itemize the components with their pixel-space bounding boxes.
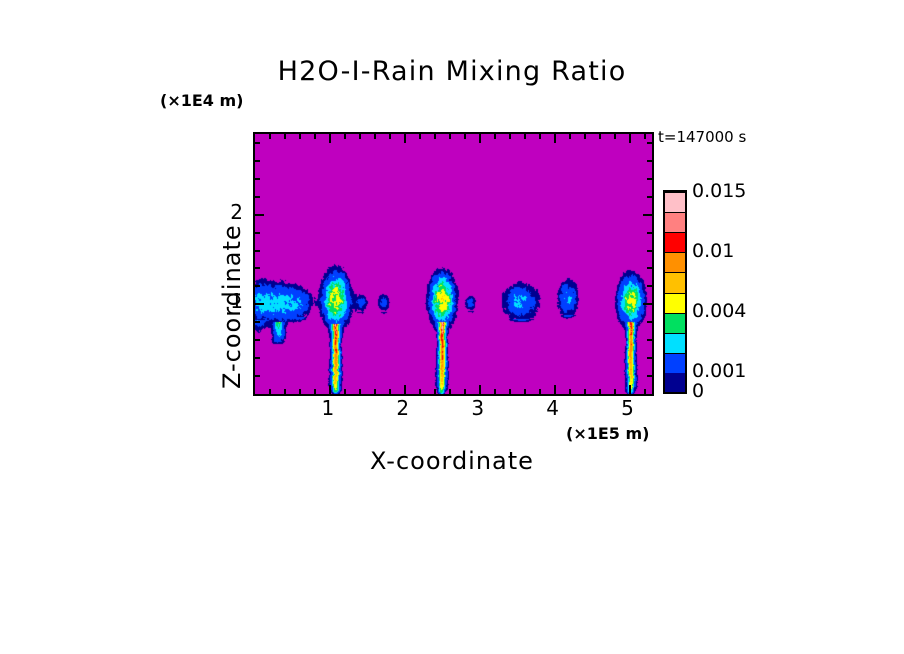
x-tick-top (299, 134, 301, 139)
y-tick-right (647, 196, 652, 198)
x-tick-top (374, 134, 376, 139)
x-tick-top (569, 134, 571, 139)
x-tick-top (329, 134, 331, 143)
y-tick (255, 267, 260, 269)
x-tick (614, 389, 616, 394)
y-tick (255, 232, 260, 234)
x-tick-top (359, 134, 361, 139)
y-tick-right (647, 142, 652, 144)
colorbar-label: 0.004 (692, 300, 746, 322)
colorbar-segment-2 (665, 333, 685, 353)
x-tick (269, 389, 271, 394)
colorbar-segment-8 (665, 212, 685, 232)
y-tick-right (647, 285, 652, 287)
y-tick (255, 214, 264, 216)
x-tick (434, 389, 436, 394)
x-tick-top (629, 134, 631, 143)
y-tick-right (647, 267, 652, 269)
x-tick (569, 389, 571, 394)
y-tick (255, 160, 260, 162)
x-tick-label: 4 (533, 396, 573, 420)
y-tick (255, 321, 260, 323)
colorbar-segment-3 (665, 313, 685, 333)
y-tick-right (643, 214, 652, 216)
colorbar (663, 190, 687, 394)
x-tick-top (554, 134, 556, 143)
x-tick (524, 389, 526, 394)
y-tick-right (647, 375, 652, 377)
x-tick-top (494, 134, 496, 139)
y-tick-right (647, 232, 652, 234)
colorbar-segment-7 (665, 232, 685, 252)
y-tick (255, 250, 260, 252)
field-heatmap (255, 134, 652, 394)
y-tick-right (647, 339, 652, 341)
x-tick-top (449, 134, 451, 139)
x-axis-unit-label: (×1E5 m) (566, 424, 649, 443)
y-tick (255, 196, 260, 198)
x-tick-label: 1 (308, 396, 348, 420)
x-tick-top (419, 134, 421, 139)
colorbar-label: 0.001 (692, 360, 746, 382)
x-tick-top (479, 134, 481, 143)
x-tick-top (389, 134, 391, 139)
x-tick-top (434, 134, 436, 139)
x-tick-top (509, 134, 511, 139)
x-tick-top (599, 134, 601, 139)
time-annotation: t=147000 s (658, 128, 746, 146)
y-tick-right (643, 303, 652, 305)
figure-canvas: H2O-I-Rain Mixing Ratio (×1E4 m) t=14700… (0, 0, 904, 654)
x-tick-top (344, 134, 346, 139)
x-tick-label: 5 (608, 396, 648, 420)
x-tick (644, 389, 646, 394)
x-tick-top (314, 134, 316, 139)
x-axis-title: X-coordinate (0, 447, 904, 475)
x-tick (479, 385, 481, 394)
colorbar-segment-0 (665, 373, 685, 392)
y-tick-right (647, 250, 652, 252)
x-tick-label: 2 (383, 396, 423, 420)
x-tick-top (524, 134, 526, 139)
x-tick-top (614, 134, 616, 139)
x-tick-top (284, 134, 286, 139)
y-tick-right (647, 357, 652, 359)
x-tick (329, 385, 331, 394)
y-axis-unit-label: (×1E4 m) (160, 91, 243, 110)
y-tick (255, 303, 264, 305)
x-tick-top (464, 134, 466, 139)
y-tick-right (647, 160, 652, 162)
y-tick (255, 178, 260, 180)
y-tick (255, 142, 260, 144)
x-tick (554, 385, 556, 394)
y-tick (255, 285, 260, 287)
x-tick-top (584, 134, 586, 139)
colorbar-segment-1 (665, 353, 685, 373)
x-tick (464, 389, 466, 394)
x-tick (359, 389, 361, 394)
colorbar-segment-6 (665, 252, 685, 272)
colorbar-segment-5 (665, 272, 685, 292)
colorbar-segment-4 (665, 293, 685, 313)
x-tick (344, 389, 346, 394)
y-tick-right (647, 178, 652, 180)
x-tick (419, 389, 421, 394)
x-tick (314, 389, 316, 394)
x-tick (299, 389, 301, 394)
x-tick (404, 385, 406, 394)
x-tick-top (269, 134, 271, 139)
x-tick (284, 389, 286, 394)
x-tick (374, 389, 376, 394)
y-axis-title: Z-coordinate (218, 224, 246, 389)
colorbar-label: 0.01 (692, 240, 734, 262)
x-tick (539, 389, 541, 394)
x-tick-top (404, 134, 406, 143)
x-tick (389, 389, 391, 394)
x-tick (629, 385, 631, 394)
colorbar-segment-9 (665, 192, 685, 212)
y-tick (255, 375, 260, 377)
x-tick (599, 389, 601, 394)
x-tick (584, 389, 586, 394)
y-tick-label: 2 (213, 200, 243, 224)
y-tick-right (647, 321, 652, 323)
colorbar-label: 0 (692, 380, 704, 402)
x-tick-top (539, 134, 541, 139)
x-tick-label: 3 (458, 396, 498, 420)
page-title: H2O-I-Rain Mixing Ratio (0, 56, 904, 87)
y-tick (255, 357, 260, 359)
x-tick-top (644, 134, 646, 139)
x-tick (509, 389, 511, 394)
y-tick (255, 339, 260, 341)
plot-area (253, 132, 654, 396)
x-tick (449, 389, 451, 394)
colorbar-label: 0.015 (692, 180, 746, 202)
x-tick (494, 389, 496, 394)
